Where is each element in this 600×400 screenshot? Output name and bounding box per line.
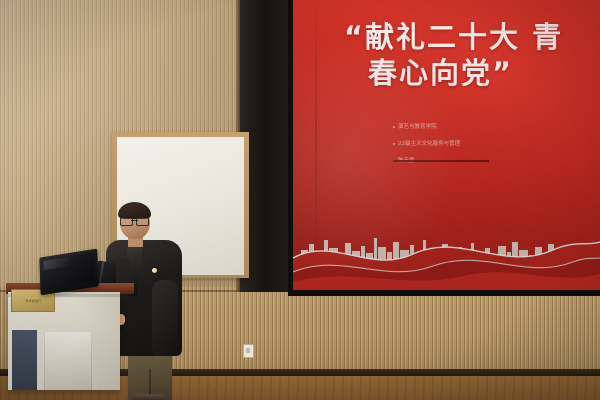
- led-presentation-screen: “献礼二十大 青 春心向党” 演艺与教育学院 22级主义文化服务与管理 陈天爱: [293, 0, 600, 290]
- power-outlet: [243, 344, 254, 358]
- jacket-highlight: [152, 280, 178, 360]
- lapel-badge-icon: [152, 268, 157, 273]
- lecture-hall-photo: “献礼二十大 青 春心向党” 演艺与教育学院 22级主义文化服务与管理 陈天爱: [0, 0, 600, 400]
- screen-glare: [293, 0, 600, 290]
- speaker-shoe: [132, 394, 166, 400]
- podium-plaque-text: 学术报告厅: [25, 298, 41, 303]
- eyeglasses-icon: [120, 217, 149, 224]
- podium-side-panel: [12, 330, 37, 390]
- podium-front-panel: [44, 332, 92, 390]
